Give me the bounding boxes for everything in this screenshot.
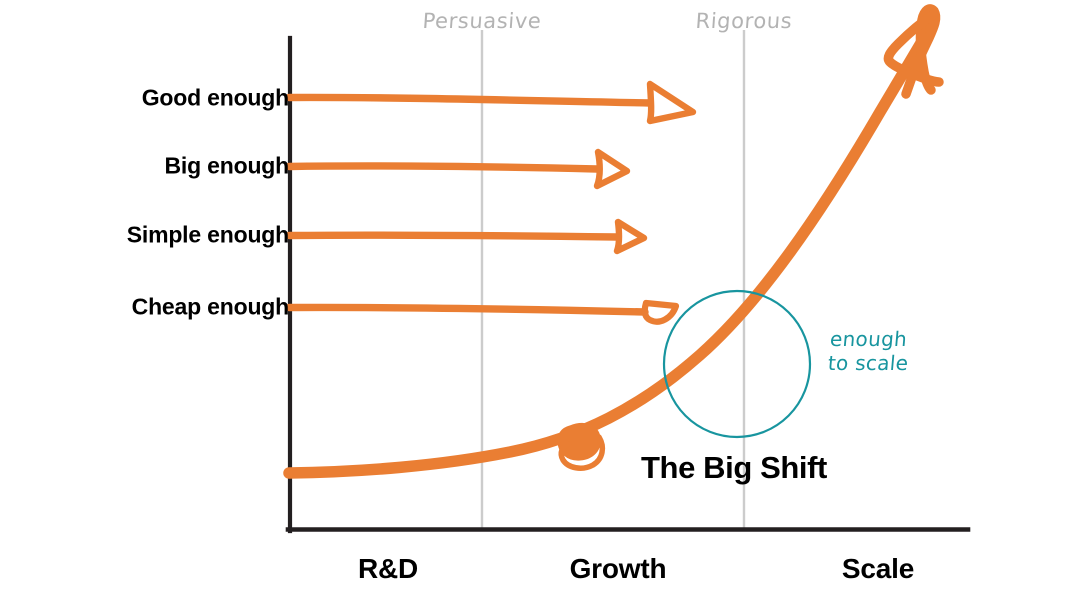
enough-arrows <box>289 84 693 322</box>
arrow-simple-enough <box>289 222 644 251</box>
arrow-good-enough <box>289 84 693 121</box>
big-shift-label: The Big Shift <box>641 450 827 486</box>
phase-label-persuasive: Persuasive <box>422 9 542 33</box>
diagram-canvas: Good enough Big enough Simple enough Che… <box>0 0 1080 606</box>
enough-to-scale-note: enough to scale <box>827 327 912 376</box>
y-label-good-enough: Good enough <box>142 85 289 112</box>
axes <box>288 38 968 531</box>
phase-label-rigorous: Rigorous <box>695 9 793 33</box>
x-label-growth: Growth <box>570 553 667 585</box>
x-label-rnd: R&D <box>358 553 418 585</box>
x-label-scale: Scale <box>842 553 914 585</box>
y-label-big-enough: Big enough <box>165 153 289 180</box>
y-label-simple-enough: Simple enough <box>127 222 289 249</box>
enough-to-scale-line1: enough <box>829 327 912 351</box>
y-label-cheap-enough: Cheap enough <box>132 294 289 321</box>
enough-to-scale-line2: to scale <box>827 351 910 375</box>
big-shift-marker <box>559 424 602 468</box>
arrow-big-enough <box>289 152 627 186</box>
big-shift-curve <box>289 9 939 473</box>
